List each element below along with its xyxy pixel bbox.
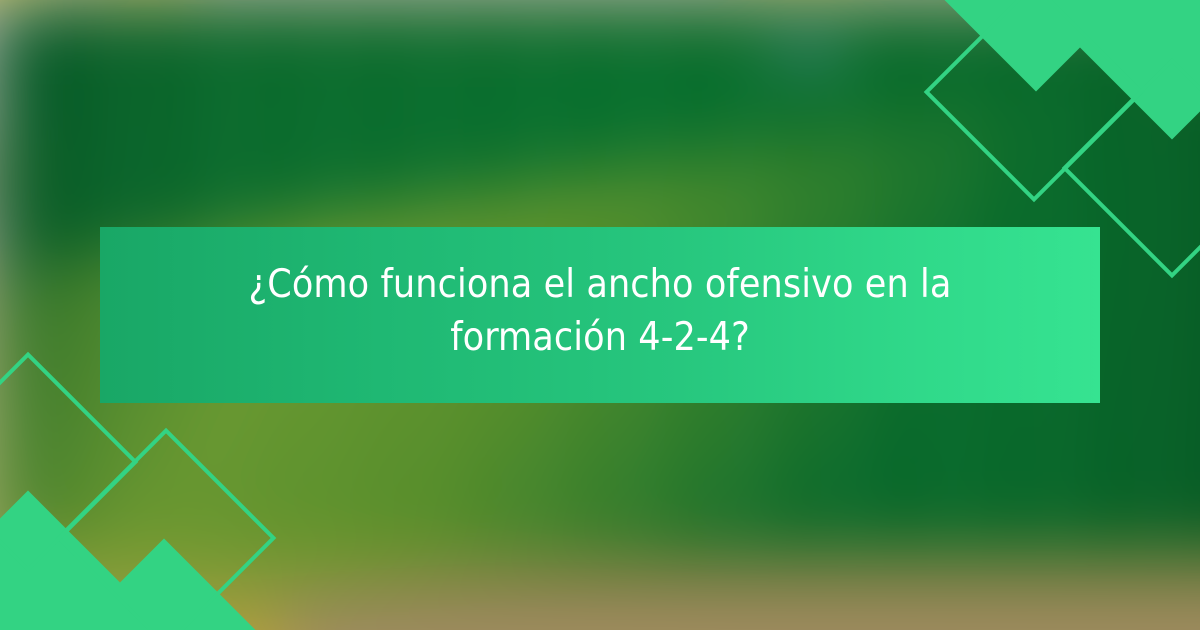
background-blob: [779, 32, 834, 73]
page-title: ¿Cómo funciona el ancho ofensivo en la f…: [170, 258, 1030, 364]
headline-card: ¿Cómo funciona el ancho ofensivo en la f…: [100, 227, 1100, 403]
social-card-canvas: ¿Cómo funciona el ancho ofensivo en la f…: [0, 0, 1200, 630]
